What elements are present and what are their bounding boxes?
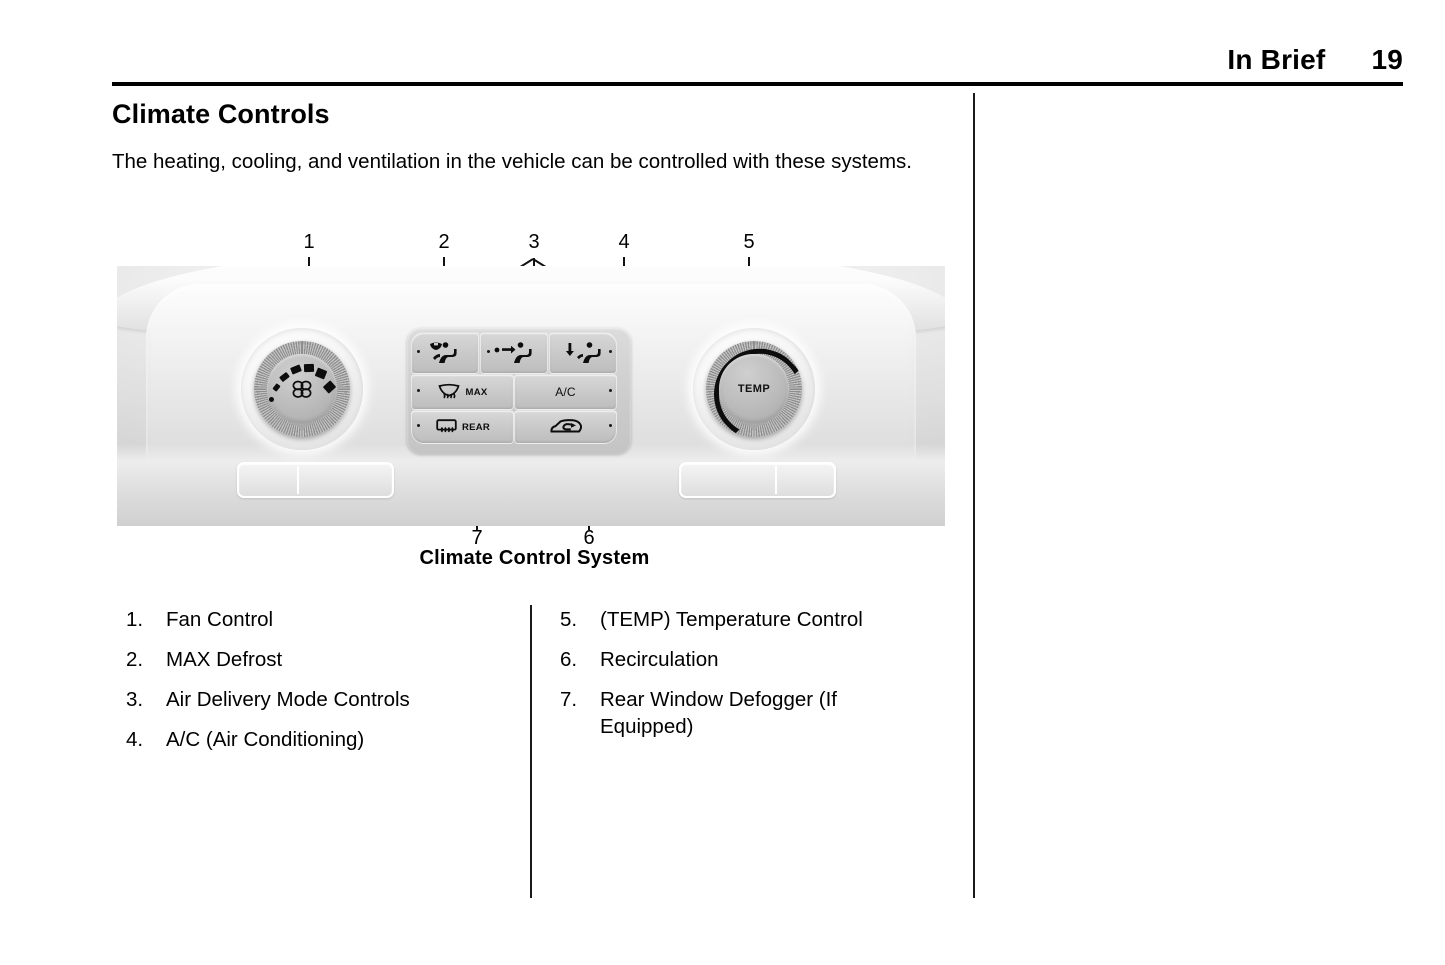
header-title: In Brief bbox=[1227, 44, 1325, 76]
temperature-control-knob[interactable]: TEMP bbox=[706, 341, 802, 437]
dashboard-illustration: TEMP bbox=[117, 266, 945, 526]
rear-defogger-button[interactable]: REAR bbox=[411, 410, 514, 444]
legend-text: (TEMP) Temperature Control bbox=[600, 606, 955, 633]
figure-caption: Climate Control System bbox=[112, 547, 957, 570]
max-defrost-button[interactable]: MAX bbox=[411, 374, 514, 410]
page-number: 19 bbox=[1371, 44, 1403, 76]
mode-defrost-windshield-button[interactable] bbox=[411, 332, 479, 374]
list-item: 2. MAX Defrost bbox=[126, 646, 521, 673]
legend-number: 1. bbox=[126, 606, 166, 633]
ac-label: A/C bbox=[555, 385, 576, 399]
list-item: 1. Fan Control bbox=[126, 606, 521, 633]
callout-number-4: 4 bbox=[618, 232, 629, 252]
recirculation-button[interactable] bbox=[514, 410, 617, 444]
callout-number-5: 5 bbox=[743, 232, 754, 252]
section-title: Climate Controls bbox=[112, 99, 330, 130]
windshield-defrost-person-icon bbox=[425, 341, 465, 365]
indicator-dot-mode-center bbox=[487, 350, 490, 353]
fan-control-knob[interactable] bbox=[254, 341, 350, 437]
indicator-dot-rear-defogger bbox=[417, 424, 420, 427]
legend-text: Fan Control bbox=[166, 606, 521, 633]
right-vent-divider bbox=[775, 466, 777, 494]
legend-number: 4. bbox=[126, 726, 166, 753]
list-item: 7. Rear Window Defogger (If Equipped) bbox=[560, 686, 955, 740]
indicator-dot-recirculation bbox=[609, 424, 612, 427]
fan-speed-mark-4 bbox=[304, 364, 314, 372]
mode-floor-vent-button[interactable] bbox=[549, 332, 617, 374]
section-intro: The heating, cooling, and ventilation in… bbox=[112, 148, 912, 176]
right-air-vent bbox=[679, 462, 836, 498]
rear-defogger-icon bbox=[435, 418, 458, 436]
left-vent-divider bbox=[297, 466, 299, 494]
callout-number-7: 7 bbox=[471, 528, 482, 548]
list-item: 6. Recirculation bbox=[560, 646, 955, 673]
floor-vent-person-icon bbox=[561, 341, 605, 365]
fan-speed-mark-0 bbox=[269, 397, 274, 402]
legend-number: 7. bbox=[560, 686, 600, 740]
callout-number-2: 2 bbox=[438, 232, 449, 252]
ac-button[interactable]: A/C bbox=[514, 374, 617, 410]
legend-number: 3. bbox=[126, 686, 166, 713]
legend-column-divider bbox=[530, 605, 532, 898]
face-vent-person-icon bbox=[492, 341, 536, 365]
temp-knob-label: TEMP bbox=[738, 383, 770, 395]
list-item: 3. Air Delivery Mode Controls bbox=[126, 686, 521, 713]
climate-button-cluster: MAX A/C REAR bbox=[407, 328, 631, 454]
page-header: In Brief 19 bbox=[112, 44, 1403, 76]
callout-number-3: 3 bbox=[528, 232, 539, 252]
legend-text: Rear Window Defogger (If Equipped) bbox=[600, 686, 900, 740]
rear-defogger-label: REAR bbox=[462, 422, 490, 433]
legend-number: 6. bbox=[560, 646, 600, 673]
legend-column-left: 1. Fan Control 2. MAX Defrost 3. Air Del… bbox=[126, 606, 521, 766]
legend-text: Air Delivery Mode Controls bbox=[166, 686, 521, 713]
callout-number-1: 1 bbox=[303, 232, 314, 252]
recirculation-car-icon bbox=[549, 417, 583, 437]
mode-face-vent-button[interactable] bbox=[480, 332, 548, 374]
indicator-dot-mode-left bbox=[417, 350, 420, 353]
max-defrost-icon bbox=[437, 383, 461, 402]
legend-text: A/C (Air Conditioning) bbox=[166, 726, 521, 753]
max-defrost-label: MAX bbox=[465, 387, 487, 398]
legend-number: 5. bbox=[560, 606, 600, 633]
manual-page: In Brief 19 Climate Controls The heating… bbox=[0, 0, 1445, 965]
legend-text: MAX Defrost bbox=[166, 646, 521, 673]
right-column-divider bbox=[973, 93, 975, 898]
legend-number: 2. bbox=[126, 646, 166, 673]
callout-number-6: 6 bbox=[583, 528, 594, 548]
fan-blades-icon bbox=[289, 378, 315, 400]
left-air-vent bbox=[237, 462, 394, 498]
legend-column-right: 5. (TEMP) Temperature Control 6. Recircu… bbox=[560, 606, 955, 753]
temp-knob-face: TEMP bbox=[719, 354, 788, 423]
list-item: 4. A/C (Air Conditioning) bbox=[126, 726, 521, 753]
indicator-dot-mode-right bbox=[609, 350, 612, 353]
indicator-dot-max-defrost bbox=[417, 389, 420, 392]
indicator-dot-ac bbox=[609, 389, 612, 392]
legend-text: Recirculation bbox=[600, 646, 955, 673]
header-rule bbox=[112, 82, 1403, 86]
climate-control-figure: 1 2 3 4 5 6 7 bbox=[112, 232, 957, 572]
list-item: 5. (TEMP) Temperature Control bbox=[560, 606, 955, 633]
